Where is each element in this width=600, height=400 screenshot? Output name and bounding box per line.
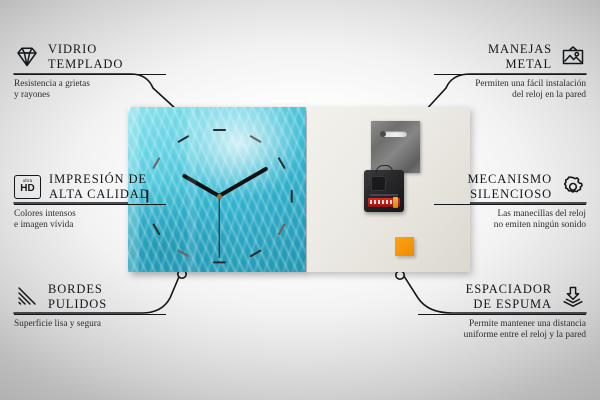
feature-title-line1: BORDES xyxy=(48,282,107,297)
ultra-hd-icon: ultra HD xyxy=(14,175,41,199)
connector-dot-espaciador xyxy=(396,271,404,279)
feature-desc-line1: Permite mantener una distancia xyxy=(418,319,586,331)
feature-desc-line1: Colores intensos xyxy=(14,209,166,221)
feature-desc-line1: Superficie lisa y segura xyxy=(14,319,166,331)
feature-desc-line1: Permiten una fácil instalación xyxy=(434,79,586,91)
feature-desc-line1: Resistencia a grietas xyxy=(14,79,166,91)
clock-tick xyxy=(177,249,189,258)
picture-hanger-icon xyxy=(560,45,586,69)
feature-title-line1: IMPRESIÓN DE xyxy=(49,172,150,187)
feature-desc-line2: uniforme entre el reloj y la pared xyxy=(418,330,586,342)
battery-label xyxy=(370,200,394,204)
foam-spacer xyxy=(395,237,414,256)
clock-tick xyxy=(277,223,286,235)
feature-desc-line2: e imagen vívida xyxy=(14,220,166,232)
hanger-hole xyxy=(380,131,386,137)
feature-title-line2: ALTA CALIDAD xyxy=(49,187,150,202)
feature-manejas-metal: MANEJAS METAL Permiten una fácil instala… xyxy=(434,42,586,102)
clock-tick xyxy=(152,157,161,169)
clock-tick xyxy=(177,135,189,144)
clock-second-hand xyxy=(218,196,219,258)
battery-terminal xyxy=(393,197,398,208)
clock-tick xyxy=(277,157,286,169)
clock-tick xyxy=(249,135,261,144)
feature-rule xyxy=(14,314,166,315)
feature-title-line1: MANEJAS xyxy=(434,42,552,57)
clock-tick xyxy=(213,129,226,131)
clock-tick xyxy=(213,261,226,263)
feature-title-line1: ESPACIADOR xyxy=(418,282,552,297)
clock-tick xyxy=(290,189,292,202)
feature-rule xyxy=(434,204,586,205)
feature-title-line2: SILENCIOSO xyxy=(434,187,552,202)
clock-tick xyxy=(249,249,261,258)
feature-rule xyxy=(434,74,586,75)
feature-desc-line2: y rayones xyxy=(14,90,166,102)
feature-bordes-pulidos: BORDES PULIDOS Superficie lisa y segura xyxy=(14,282,166,330)
feature-vidrio-templado: VIDRIO TEMPLADO Resistencia a grietas y … xyxy=(14,42,166,102)
feature-desc-line1: Las manecillas del reloj xyxy=(434,209,586,221)
feature-title-line2: DE ESPUMA xyxy=(418,297,552,312)
ultra-hd-icon-big-label: HD xyxy=(20,184,34,194)
feature-mecanismo-silencioso: MECANISMO SILENCIOSO Las manecillas del … xyxy=(434,172,586,232)
feature-desc-line2: del reloj en la pared xyxy=(434,90,586,102)
feature-espaciador-espuma: ESPACIADOR DE ESPUMA Permite mantener un… xyxy=(418,282,586,342)
quartz-mechanism xyxy=(364,170,404,212)
feature-desc-line2: no emiten ningún sonido xyxy=(434,220,586,232)
diamond-icon xyxy=(14,45,40,69)
mechanism-seam xyxy=(370,194,398,196)
clock-center-cap xyxy=(217,194,222,199)
feature-impresion-alta-calidad: ultra HD IMPRESIÓN DE ALTA CALIDAD Color… xyxy=(14,172,166,232)
mechanism-body xyxy=(371,176,386,191)
clock-hour-hand xyxy=(182,173,220,197)
infographic-canvas: VIDRIO TEMPLADO Resistencia a grietas y … xyxy=(0,0,600,400)
foam-spacer-icon xyxy=(560,285,586,309)
mechanism-loop xyxy=(376,165,393,174)
feature-rule xyxy=(14,74,166,75)
clock-minute-hand xyxy=(218,166,268,197)
feature-rule xyxy=(14,204,166,205)
feature-title-line1: VIDRIO xyxy=(48,42,123,57)
feature-title-line1: MECANISMO xyxy=(434,172,552,187)
feature-title-line2: PULIDOS xyxy=(48,297,107,312)
feature-title-line2: TEMPLADO xyxy=(48,57,123,72)
polished-edge-icon xyxy=(14,285,40,309)
gear-icon xyxy=(560,175,586,199)
feature-title-line2: METAL xyxy=(434,57,552,72)
feature-rule xyxy=(418,314,586,315)
